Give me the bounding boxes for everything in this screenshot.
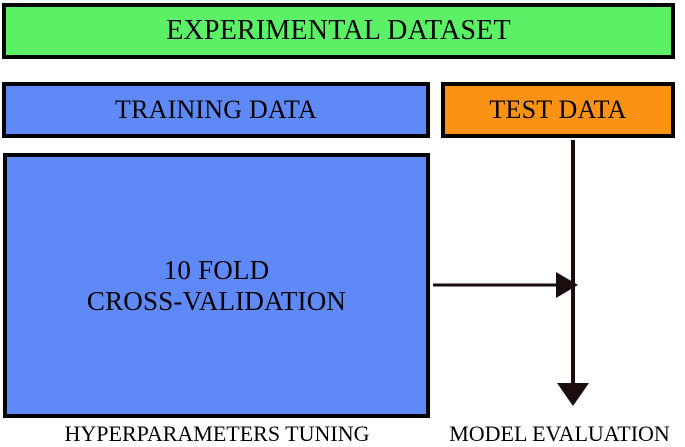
- test-data-down-arrow-icon: [557, 140, 589, 406]
- box-experimental-dataset-label: EXPERIMENTAL DATASET: [166, 15, 511, 46]
- box-test-data: TEST DATA: [441, 82, 675, 138]
- box-experimental-dataset: EXPERIMENTAL DATASET: [2, 3, 675, 59]
- cross-validation-right-arrow-icon: [433, 272, 578, 298]
- box-test-data-label: TEST DATA: [489, 95, 626, 124]
- box-cross-validation-text: 10 FOLD CROSS-VALIDATION: [87, 255, 346, 315]
- box-training-data-label: TRAINING DATA: [115, 95, 317, 124]
- workflow-diagram: EXPERIMENTAL DATASET TRAINING DATA TEST …: [0, 0, 685, 446]
- caption-hyperparameters-tuning: HYPERPARAMETERS TUNING: [0, 421, 434, 447]
- box-cross-validation-label-line2: CROSS-VALIDATION: [87, 286, 346, 316]
- box-training-data: TRAINING DATA: [2, 82, 430, 138]
- caption-model-evaluation: MODEL EVALUATION: [434, 421, 685, 447]
- box-cross-validation-label-line1: 10 FOLD: [87, 255, 346, 285]
- box-cross-validation: 10 FOLD CROSS-VALIDATION: [3, 153, 430, 418]
